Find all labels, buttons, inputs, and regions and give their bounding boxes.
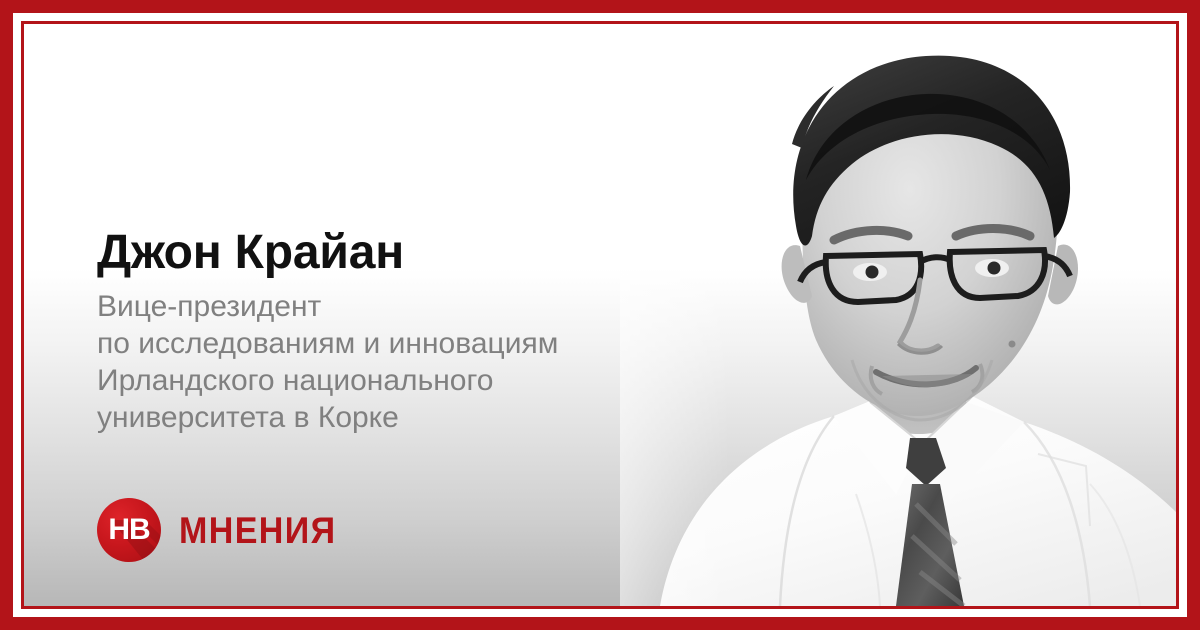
position-line-4: университета в Корке [97, 399, 757, 436]
person-position: Вице-президент по исследованиям и иннова… [97, 288, 757, 436]
person-info: Джон Крайан Вице-президент по исследован… [97, 226, 757, 436]
brand-word: МНЕНИЯ [179, 512, 336, 549]
position-line-1: Вице-президент [97, 288, 757, 325]
card-canvas: Джон Крайан Вице-президент по исследован… [24, 24, 1176, 606]
position-line-2: по исследованиям и инновациям [97, 325, 757, 362]
page-title: Джон Крайан [97, 226, 757, 280]
nv-logo-icon[interactable]: НВ [97, 498, 161, 562]
position-line-3: Ирландского национального [97, 362, 757, 399]
opinion-card: Джон Крайан Вице-президент по исследован… [0, 0, 1200, 630]
brand-lockup[interactable]: НВ МНЕНИЯ [97, 498, 350, 562]
nv-logo-letters: НВ [97, 498, 161, 562]
